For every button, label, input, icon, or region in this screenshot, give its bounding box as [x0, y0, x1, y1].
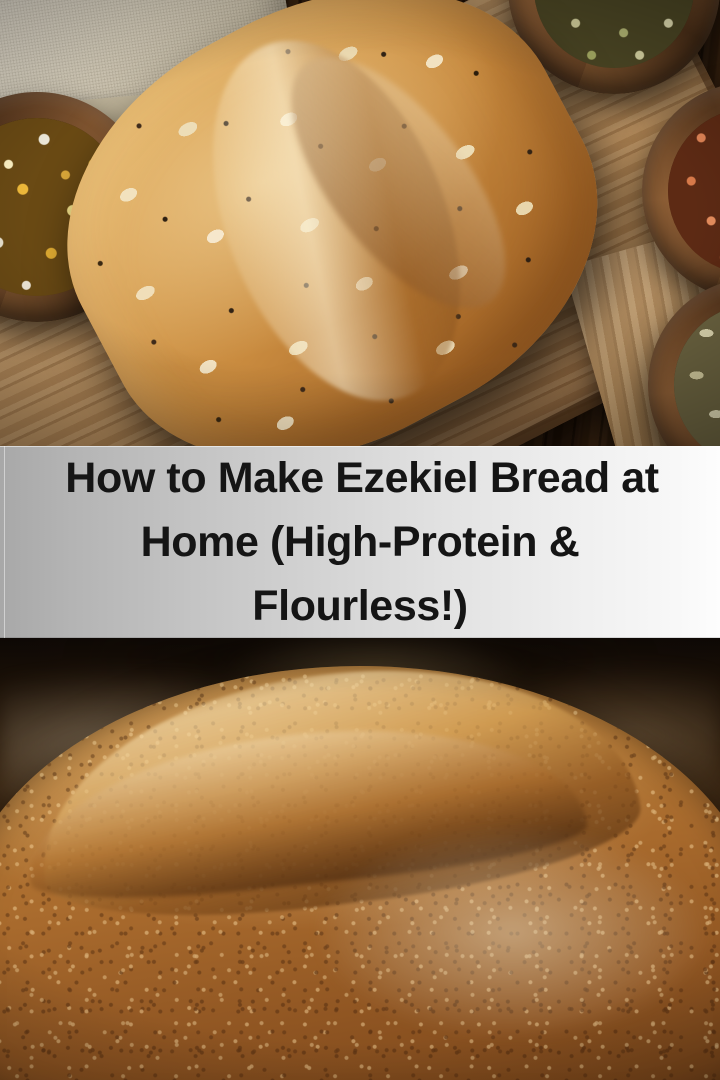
pin-title-line-1: How to Make Ezekiel Bread at — [65, 446, 658, 510]
pinterest-pin-graphic: How to Make Ezekiel Bread at Home (High-… — [0, 0, 720, 1080]
bottom-photo-vignette — [0, 638, 720, 1080]
top-photo-seeded-loaf — [0, 0, 720, 446]
pin-title-line-2: Home (High-Protein & — [141, 510, 580, 574]
pin-title-line-3: Flourless!) — [252, 574, 467, 638]
pin-title: How to Make Ezekiel Bread at Home (High-… — [0, 446, 720, 638]
bottom-photo-sourdough-boule — [0, 638, 720, 1080]
top-photo-vignette — [0, 0, 720, 446]
title-banner: How to Make Ezekiel Bread at Home (High-… — [0, 446, 720, 638]
